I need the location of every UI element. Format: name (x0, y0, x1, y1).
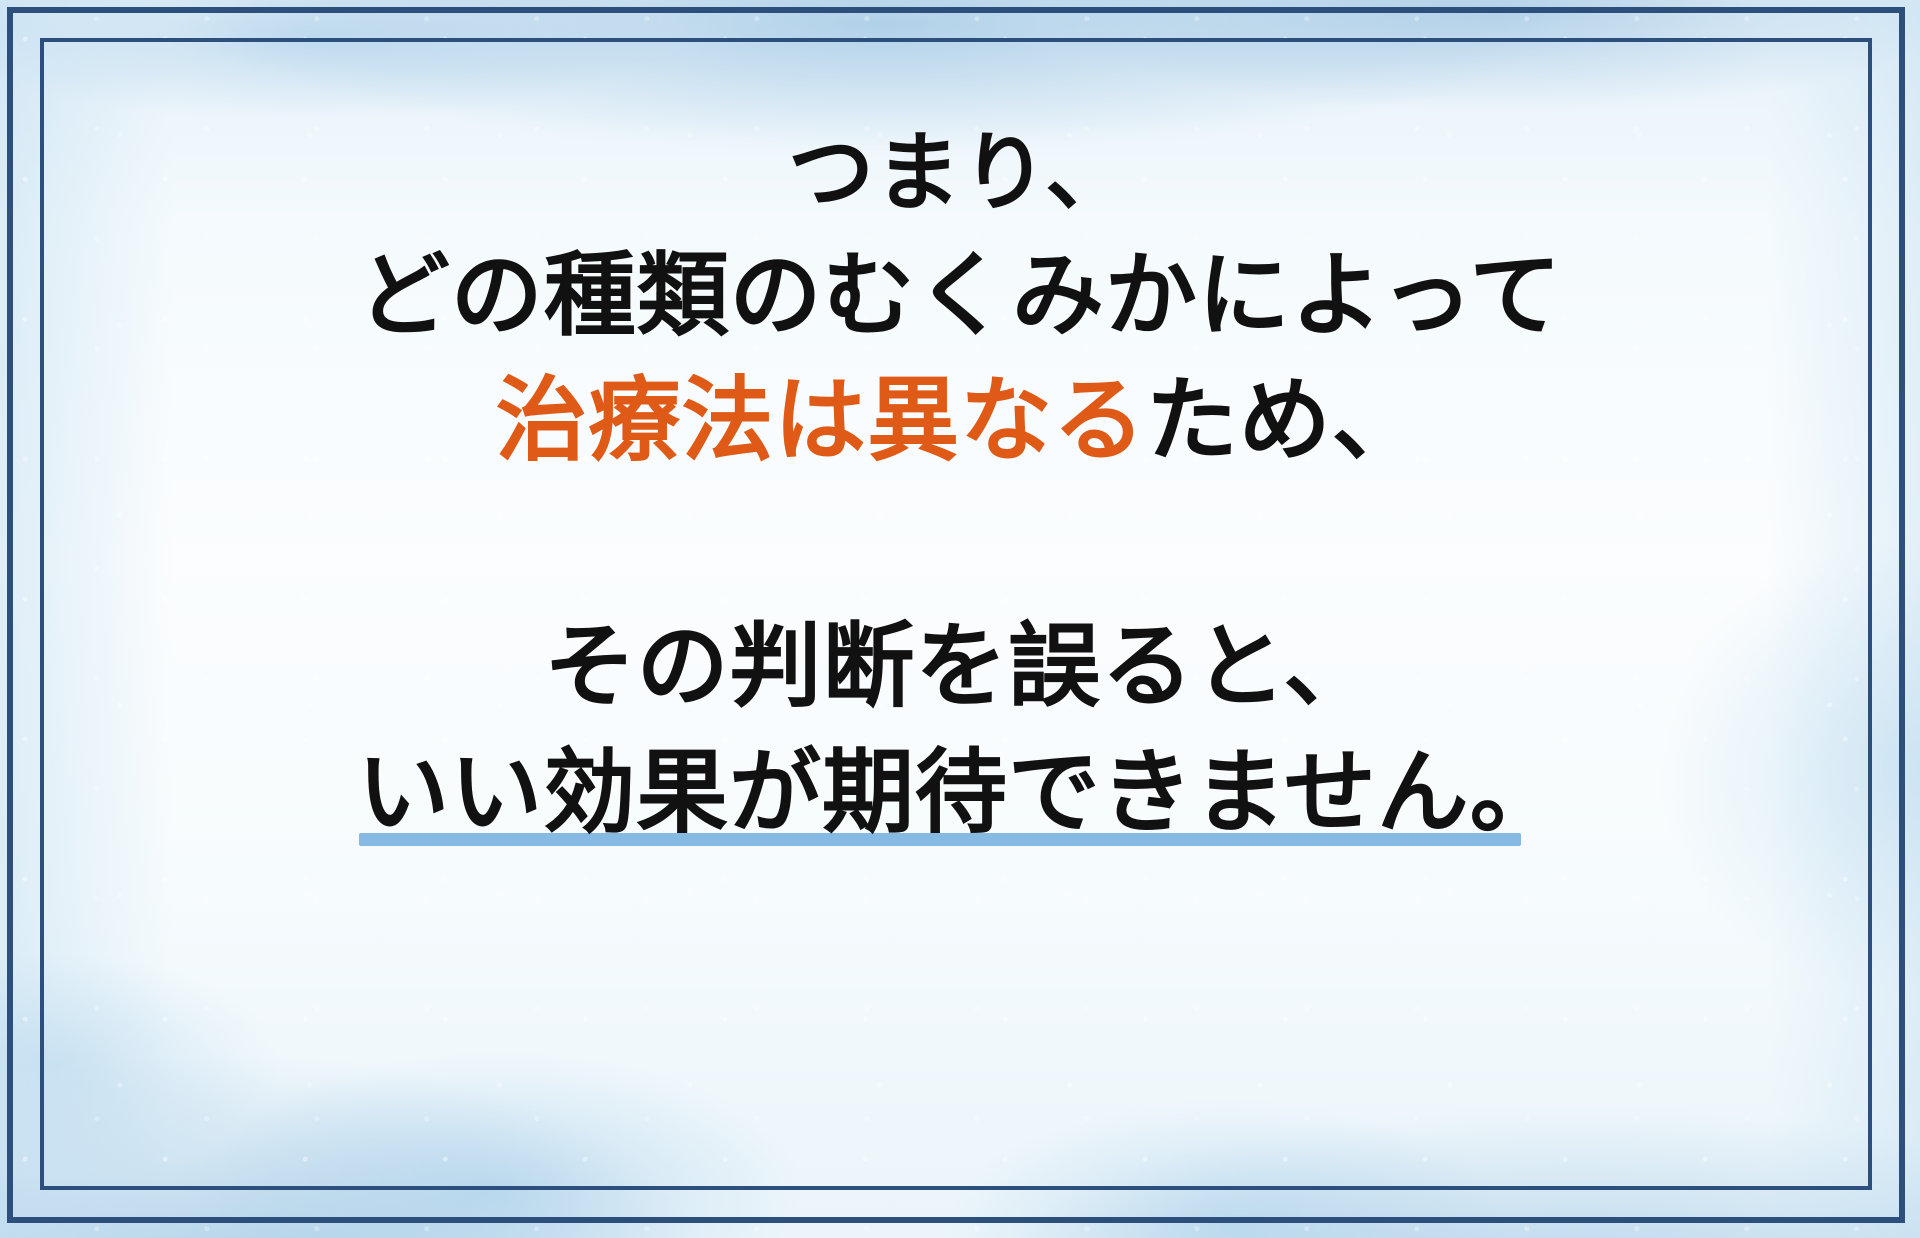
text-line-4: その判断を誤ると、 (544, 607, 1377, 727)
text-line-2: どの種類のむくみかによって (358, 236, 1562, 356)
text-line-3-accent: 治療法は異なる (495, 367, 1145, 474)
text-block: つまり、 どの種類のむくみかによって 治療法は異なるため、 その判断を誤ると、 … (0, 118, 1920, 852)
text-line-1: つまり、 (788, 118, 1132, 230)
text-line-5-label: いい効果が期待できません。 (357, 739, 1562, 846)
slide-canvas: つまり、 どの種類のむくみかによって 治療法は異なるため、 その判断を誤ると、 … (0, 0, 1920, 1238)
highlighted-phrase: いい効果が期待できません。 (357, 733, 1562, 853)
text-line-3: 治療法は異なるため、 (495, 361, 1424, 481)
text-line-5: いい効果が期待できません。 (357, 733, 1562, 853)
text-line-3-plain: ため、 (1146, 367, 1425, 474)
